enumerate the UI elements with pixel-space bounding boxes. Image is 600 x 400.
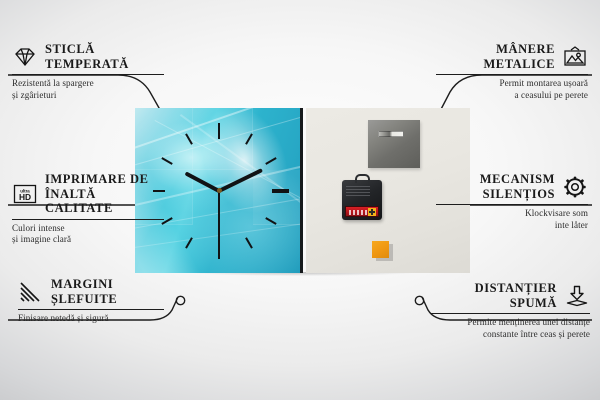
callout-tempered-glass: STICLĂ TEMPERATĂ Rezistentă la spargere … xyxy=(12,42,164,101)
down-arrow-pad-icon xyxy=(564,285,590,307)
callout-subtitle-line1: Klockvisare som xyxy=(436,208,588,219)
callout-title-line1: DISTANȚIER xyxy=(475,281,557,296)
callout-subtitle-line2: și zgârieturi xyxy=(12,90,164,101)
clock-movement xyxy=(342,180,382,220)
callout-subtitle-line1: Permite menținerea unei distanțe xyxy=(430,317,590,328)
callout-title-line1: IMPRIMARE DE xyxy=(45,172,164,187)
callout-subtitle-line1: Permit montarea ușoară xyxy=(436,78,588,89)
callout-title-line1: MECANISM xyxy=(480,172,555,187)
callout-title-line2: TEMPERATĂ xyxy=(45,57,129,72)
gear-icon xyxy=(562,176,588,198)
battery xyxy=(345,206,379,217)
metal-hanger-plate xyxy=(368,120,420,168)
callout-rule xyxy=(436,74,588,75)
callout-silent-mechanism: MECANISM SILENȚIOS xyxy=(436,172,588,231)
callout-subtitle-line2: și imagine clară xyxy=(12,234,164,245)
callout-title-line2: SPUMĂ xyxy=(475,296,557,311)
battery-label xyxy=(349,210,367,215)
product-shadow xyxy=(137,272,468,279)
ultra-hd-icon: ultra HD xyxy=(12,183,38,205)
callout-title-line2: ÎNALTĂ CALITATE xyxy=(45,187,164,216)
callout-subtitle-line1: Rezistentă la spargere xyxy=(12,78,164,89)
framed-picture-icon xyxy=(562,46,588,68)
callout-polished-edges: MARGINI ȘLEFUITE Finisare netedă și sigu… xyxy=(18,277,164,325)
infographic-stage: STICLĂ TEMPERATĂ Rezistentă la spargere … xyxy=(0,0,600,400)
callout-title-line1: STICLĂ xyxy=(45,42,129,57)
product-image xyxy=(135,108,470,273)
callout-rule xyxy=(12,74,164,75)
callout-high-quality-print: ultra HD IMPRIMARE DE ÎNALTĂ CALITATE Cu… xyxy=(12,172,164,245)
diamond-icon xyxy=(12,46,38,68)
callout-subtitle-line2: a ceasului pe perete xyxy=(436,90,588,101)
diagonal-stripes-icon xyxy=(18,281,44,303)
callout-foam-spacer: DISTANȚIER SPUMĂ Permite menținerea unei… xyxy=(430,281,590,340)
battery-plus-terminal xyxy=(368,208,376,216)
hand-cap xyxy=(217,188,222,193)
callout-rule xyxy=(436,204,588,205)
hanger-slot xyxy=(378,131,404,137)
callout-metal-handles: MÂNERE METALICE Permit montarea ușoară a… xyxy=(436,42,588,101)
callout-title-line1: MARGINI xyxy=(51,277,117,292)
callout-rule xyxy=(12,219,164,220)
callout-title-line1: MÂNERE xyxy=(483,42,555,57)
callout-title-line2: METALICE xyxy=(483,57,555,72)
callout-title-line2: SILENȚIOS xyxy=(480,187,555,202)
callout-subtitle-line1: Finisare netedă și sigură xyxy=(18,313,164,324)
movement-hook xyxy=(355,174,370,183)
movement-vents xyxy=(346,186,370,198)
callout-subtitle-line2: inte låter xyxy=(436,220,588,231)
callout-subtitle-line1: Culori intense xyxy=(12,223,164,234)
callout-rule xyxy=(18,309,164,310)
callout-rule xyxy=(430,313,590,314)
callout-subtitle-line2: constante între ceas și perete xyxy=(430,329,590,340)
callout-title-line2: ȘLEFUITE xyxy=(51,292,117,307)
foam-spacer xyxy=(372,241,389,258)
ultra-hd-large-text: HD xyxy=(19,192,31,202)
